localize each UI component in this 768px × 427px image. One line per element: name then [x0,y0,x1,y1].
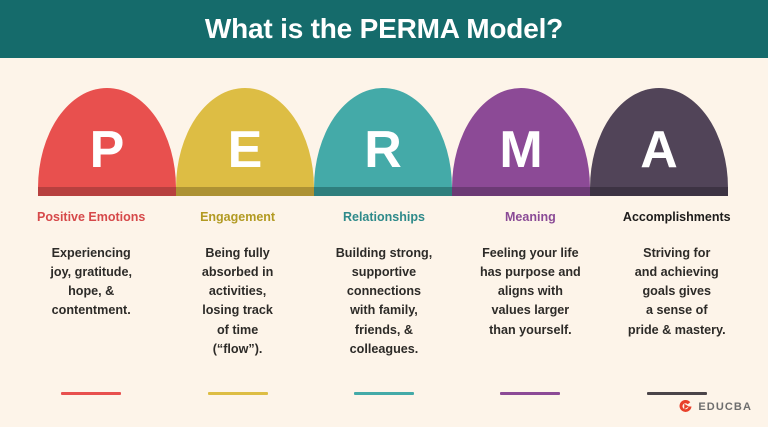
pillar-label-meaning: Meaning [505,210,556,224]
rule-cell-positive-emotions [18,392,164,395]
arch-e: E [176,88,314,196]
pillar-rule-relationships [354,392,414,395]
arch-foot-e [176,187,314,196]
arch-letter-m: M [499,124,542,176]
pillar-column-relationships: Relationships Building strong,supportive… [311,210,457,359]
arch-letter-e: E [228,124,263,176]
pillar-column-accomplishments: Accomplishments Striving forand achievin… [604,210,750,359]
header-bar: What is the PERMA Model? [0,0,768,58]
educba-logo: EDUCBA [677,398,752,415]
pillar-label-accomplishments: Accomplishments [623,210,731,224]
arch-foot-r [314,187,452,196]
arch-p: P [38,88,176,196]
arch-foot-a [590,187,728,196]
arch-foot-m [452,187,590,196]
pillar-label-positive-emotions: Positive Emotions [37,210,145,224]
pillar-column-engagement: Engagement Being fullyabsorbed inactivit… [164,210,310,359]
rule-cell-engagement [164,392,310,395]
arch-m: M [452,88,590,196]
pillar-column-meaning: Meaning Feeling your lifehas purpose and… [457,210,603,359]
pillar-description-positive-emotions: Experiencingjoy, gratitude,hope, &conten… [44,244,138,321]
arch-letter-p: P [90,124,125,176]
pillar-label-relationships: Relationships [343,210,425,224]
pillar-rule-accomplishments [647,392,707,395]
educba-logo-text: EDUCBA [698,401,752,413]
arch-a: A [590,88,728,196]
educba-logo-mark-icon [677,398,694,415]
rule-cell-meaning [457,392,603,395]
pillar-rule-meaning [500,392,560,395]
rule-cell-relationships [311,392,457,395]
pillar-description-accomplishments: Striving forand achievinggoals givesa se… [622,244,732,340]
pillar-rules [18,392,750,395]
arch-letter-a: A [640,124,678,176]
infographic-canvas: What is the PERMA Model? P E R M A Posit… [0,0,768,427]
pillar-description-relationships: Building strong,supportiveconnectionswit… [330,244,439,359]
pillar-description-meaning: Feeling your lifehas purpose andaligns w… [474,244,587,340]
rule-cell-accomplishments [604,392,750,395]
page-title: What is the PERMA Model? [205,13,563,45]
perma-arch-row: P E R M A [38,88,728,196]
pillar-label-engagement: Engagement [200,210,275,224]
pillar-column-positive-emotions: Positive Emotions Experiencingjoy, grati… [18,210,164,359]
arch-foot-p [38,187,176,196]
arch-letter-r: R [364,124,402,176]
pillar-columns: Positive Emotions Experiencingjoy, grati… [18,210,750,359]
arch-r: R [314,88,452,196]
pillar-description-engagement: Being fullyabsorbed inactivities,losing … [196,244,279,359]
pillar-rule-positive-emotions [61,392,121,395]
pillar-rule-engagement [208,392,268,395]
